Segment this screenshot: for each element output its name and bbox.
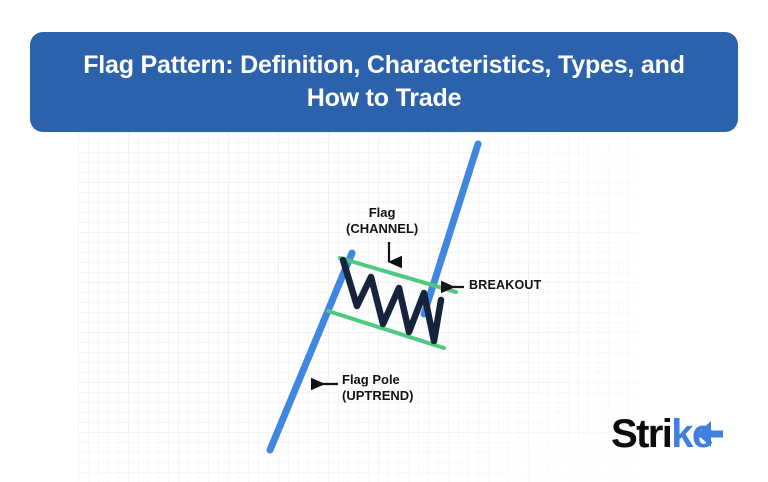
flag-pole-label: Flag Pole (UPTREND) <box>342 372 414 404</box>
flagpole-label-line2: (UPTREND) <box>342 388 414 404</box>
flagpole-label-line1: Flag Pole <box>342 372 414 388</box>
page-root: Flag Pattern: Definition, Characteristic… <box>0 0 768 482</box>
breakout-label: BREAKOUT <box>469 278 541 293</box>
page-title: Flag Pattern: Definition, Characteristic… <box>58 49 710 115</box>
flag-label-line2: (CHANNEL) <box>346 221 418 237</box>
strike-logo-text-black: Stri <box>611 412 671 456</box>
flag-pole-line <box>270 253 352 450</box>
flag-label-line1: Flag <box>346 205 418 221</box>
strike-logo[interactable]: Strike <box>611 411 741 457</box>
strike-logo-arrow-icon <box>683 420 723 448</box>
flag-channel-label: Flag (CHANNEL) <box>346 205 418 237</box>
title-banner: Flag Pattern: Definition, Characteristic… <box>30 32 738 132</box>
